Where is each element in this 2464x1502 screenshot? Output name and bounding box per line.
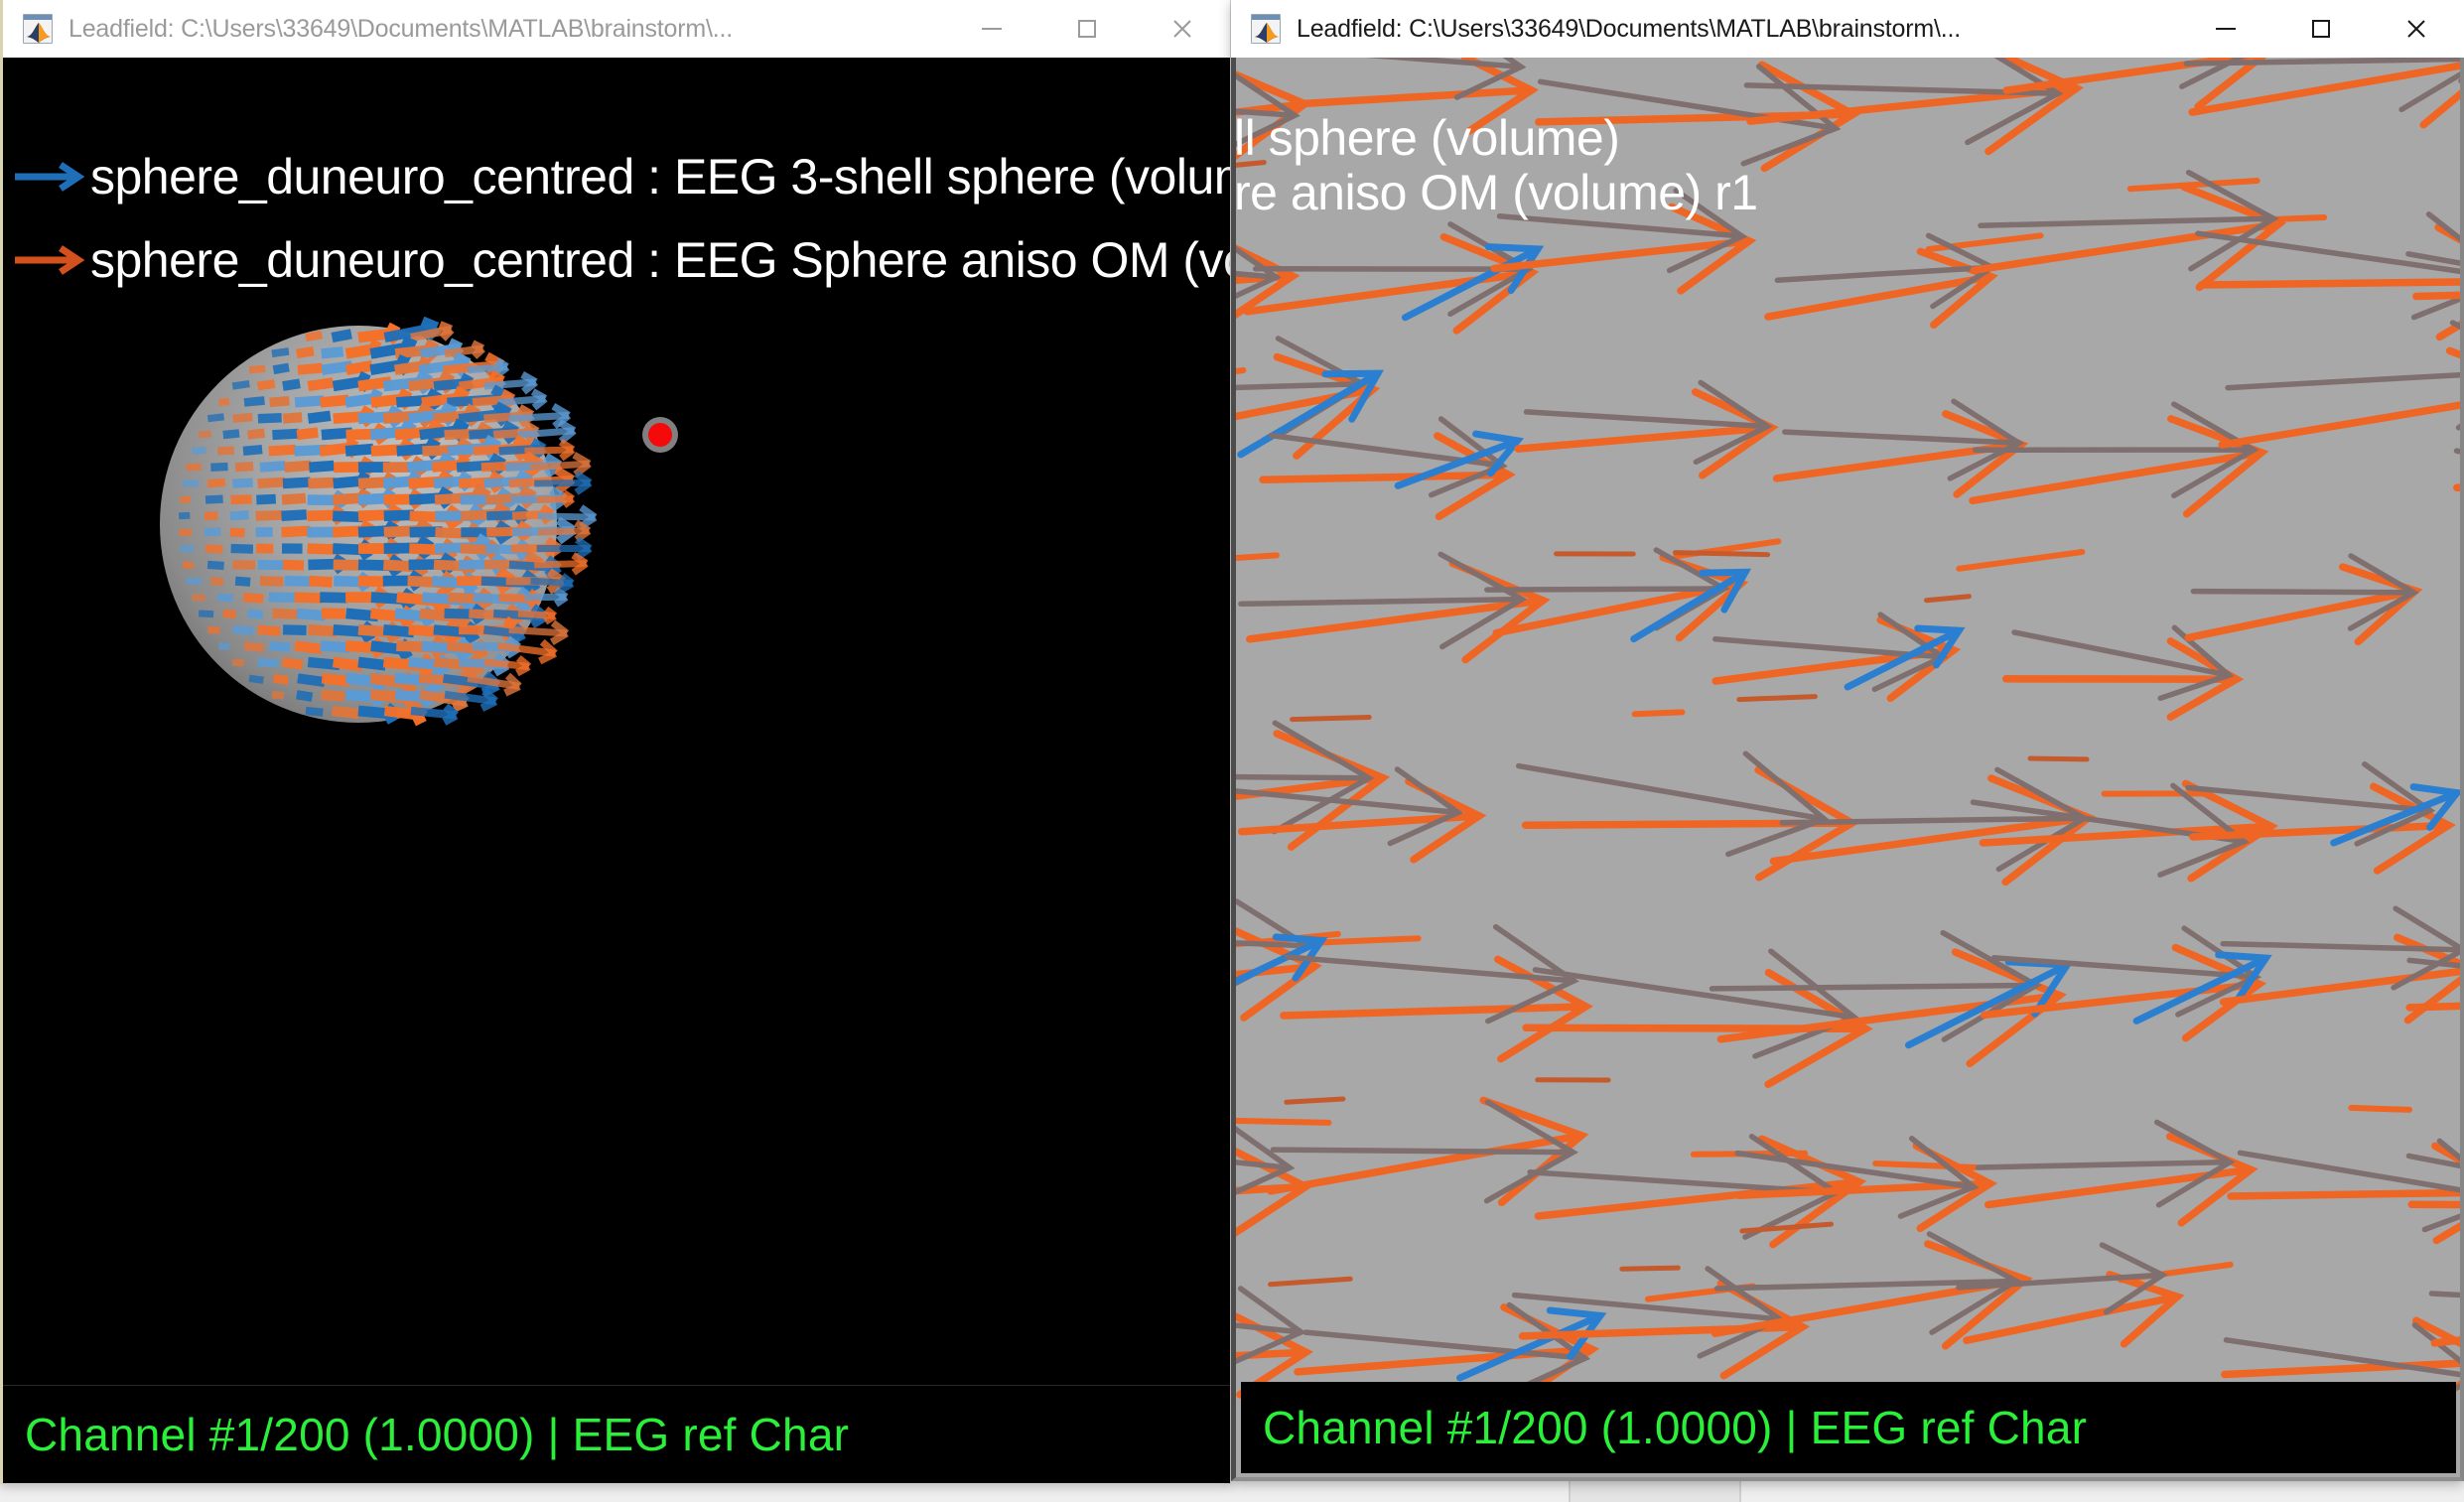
- zoomed-vector-field: [1236, 58, 2460, 1477]
- statusbar-right: Channel #1/200 (1.0000) | EEG ref Char: [1241, 1382, 2456, 1473]
- statusbar-text-right: Channel #1/200 (1.0000) | EEG ref Char: [1241, 1401, 2087, 1454]
- legend-row[interactable]: sphere_duneuro_centred : EEG Sphere anis…: [13, 218, 1230, 302]
- legend-row[interactable]: sphere_duneuro_centred : EEG 3-shell sph…: [13, 135, 1230, 218]
- titlebar-right[interactable]: Leadfield: C:\Users\33649\Documents\MATL…: [1231, 0, 2464, 58]
- window-title-right: Leadfield: C:\Users\33649\Documents\MATL…: [1297, 15, 1961, 44]
- source-marker-dot[interactable]: [648, 423, 672, 447]
- leadfield-window-left[interactable]: Leadfield: C:\Users\33649\Documents\MATL…: [0, 0, 1231, 1484]
- minimize-button-left[interactable]: [944, 0, 1039, 58]
- statusbar-left: Channel #1/200 (1.0000) | EEG ref Char: [3, 1385, 1230, 1483]
- close-button-left[interactable]: [1135, 0, 1230, 58]
- leadfield-sphere-plot[interactable]: [112, 296, 628, 752]
- legend-arrow-icon: [13, 243, 84, 277]
- sphere-vectors-svg: [112, 296, 628, 752]
- legend-arrow-icon: [13, 160, 84, 194]
- window-title-left: Leadfield: C:\Users\33649\Documents\MATL…: [68, 15, 733, 44]
- maximize-button-left[interactable]: [1039, 0, 1135, 58]
- leadfield-window-right[interactable]: Leadfield: C:\Users\33649\Documents\MATL…: [1231, 0, 2464, 1481]
- maximize-button-right[interactable]: [2273, 0, 2369, 58]
- legend-label: sphere_duneuro_centred : EEG 3-shell sph…: [90, 152, 1230, 202]
- legend-label: sphere_duneuro_centred : EEG Sphere anis…: [90, 235, 1230, 285]
- legend-left: sphere_duneuro_centred : EEG 3-shell sph…: [13, 135, 1230, 302]
- matlab-membrane-icon: [23, 14, 53, 44]
- close-button-right[interactable]: [2369, 0, 2464, 58]
- statusbar-text-left: Channel #1/200 (1.0000) | EEG ref Char: [3, 1408, 849, 1461]
- matlab-membrane-icon: [1251, 14, 1281, 44]
- leadfield-3d-canvas-left[interactable]: sphere_duneuro_centred : EEG 3-shell sph…: [3, 58, 1230, 1483]
- titlebar-left[interactable]: Leadfield: C:\Users\33649\Documents\MATL…: [3, 0, 1230, 58]
- minimize-button-right[interactable]: [2178, 0, 2273, 58]
- leadfield-3d-canvas-right[interactable]: ll sphere (volume) re aniso OM (volume) …: [1231, 58, 2464, 1481]
